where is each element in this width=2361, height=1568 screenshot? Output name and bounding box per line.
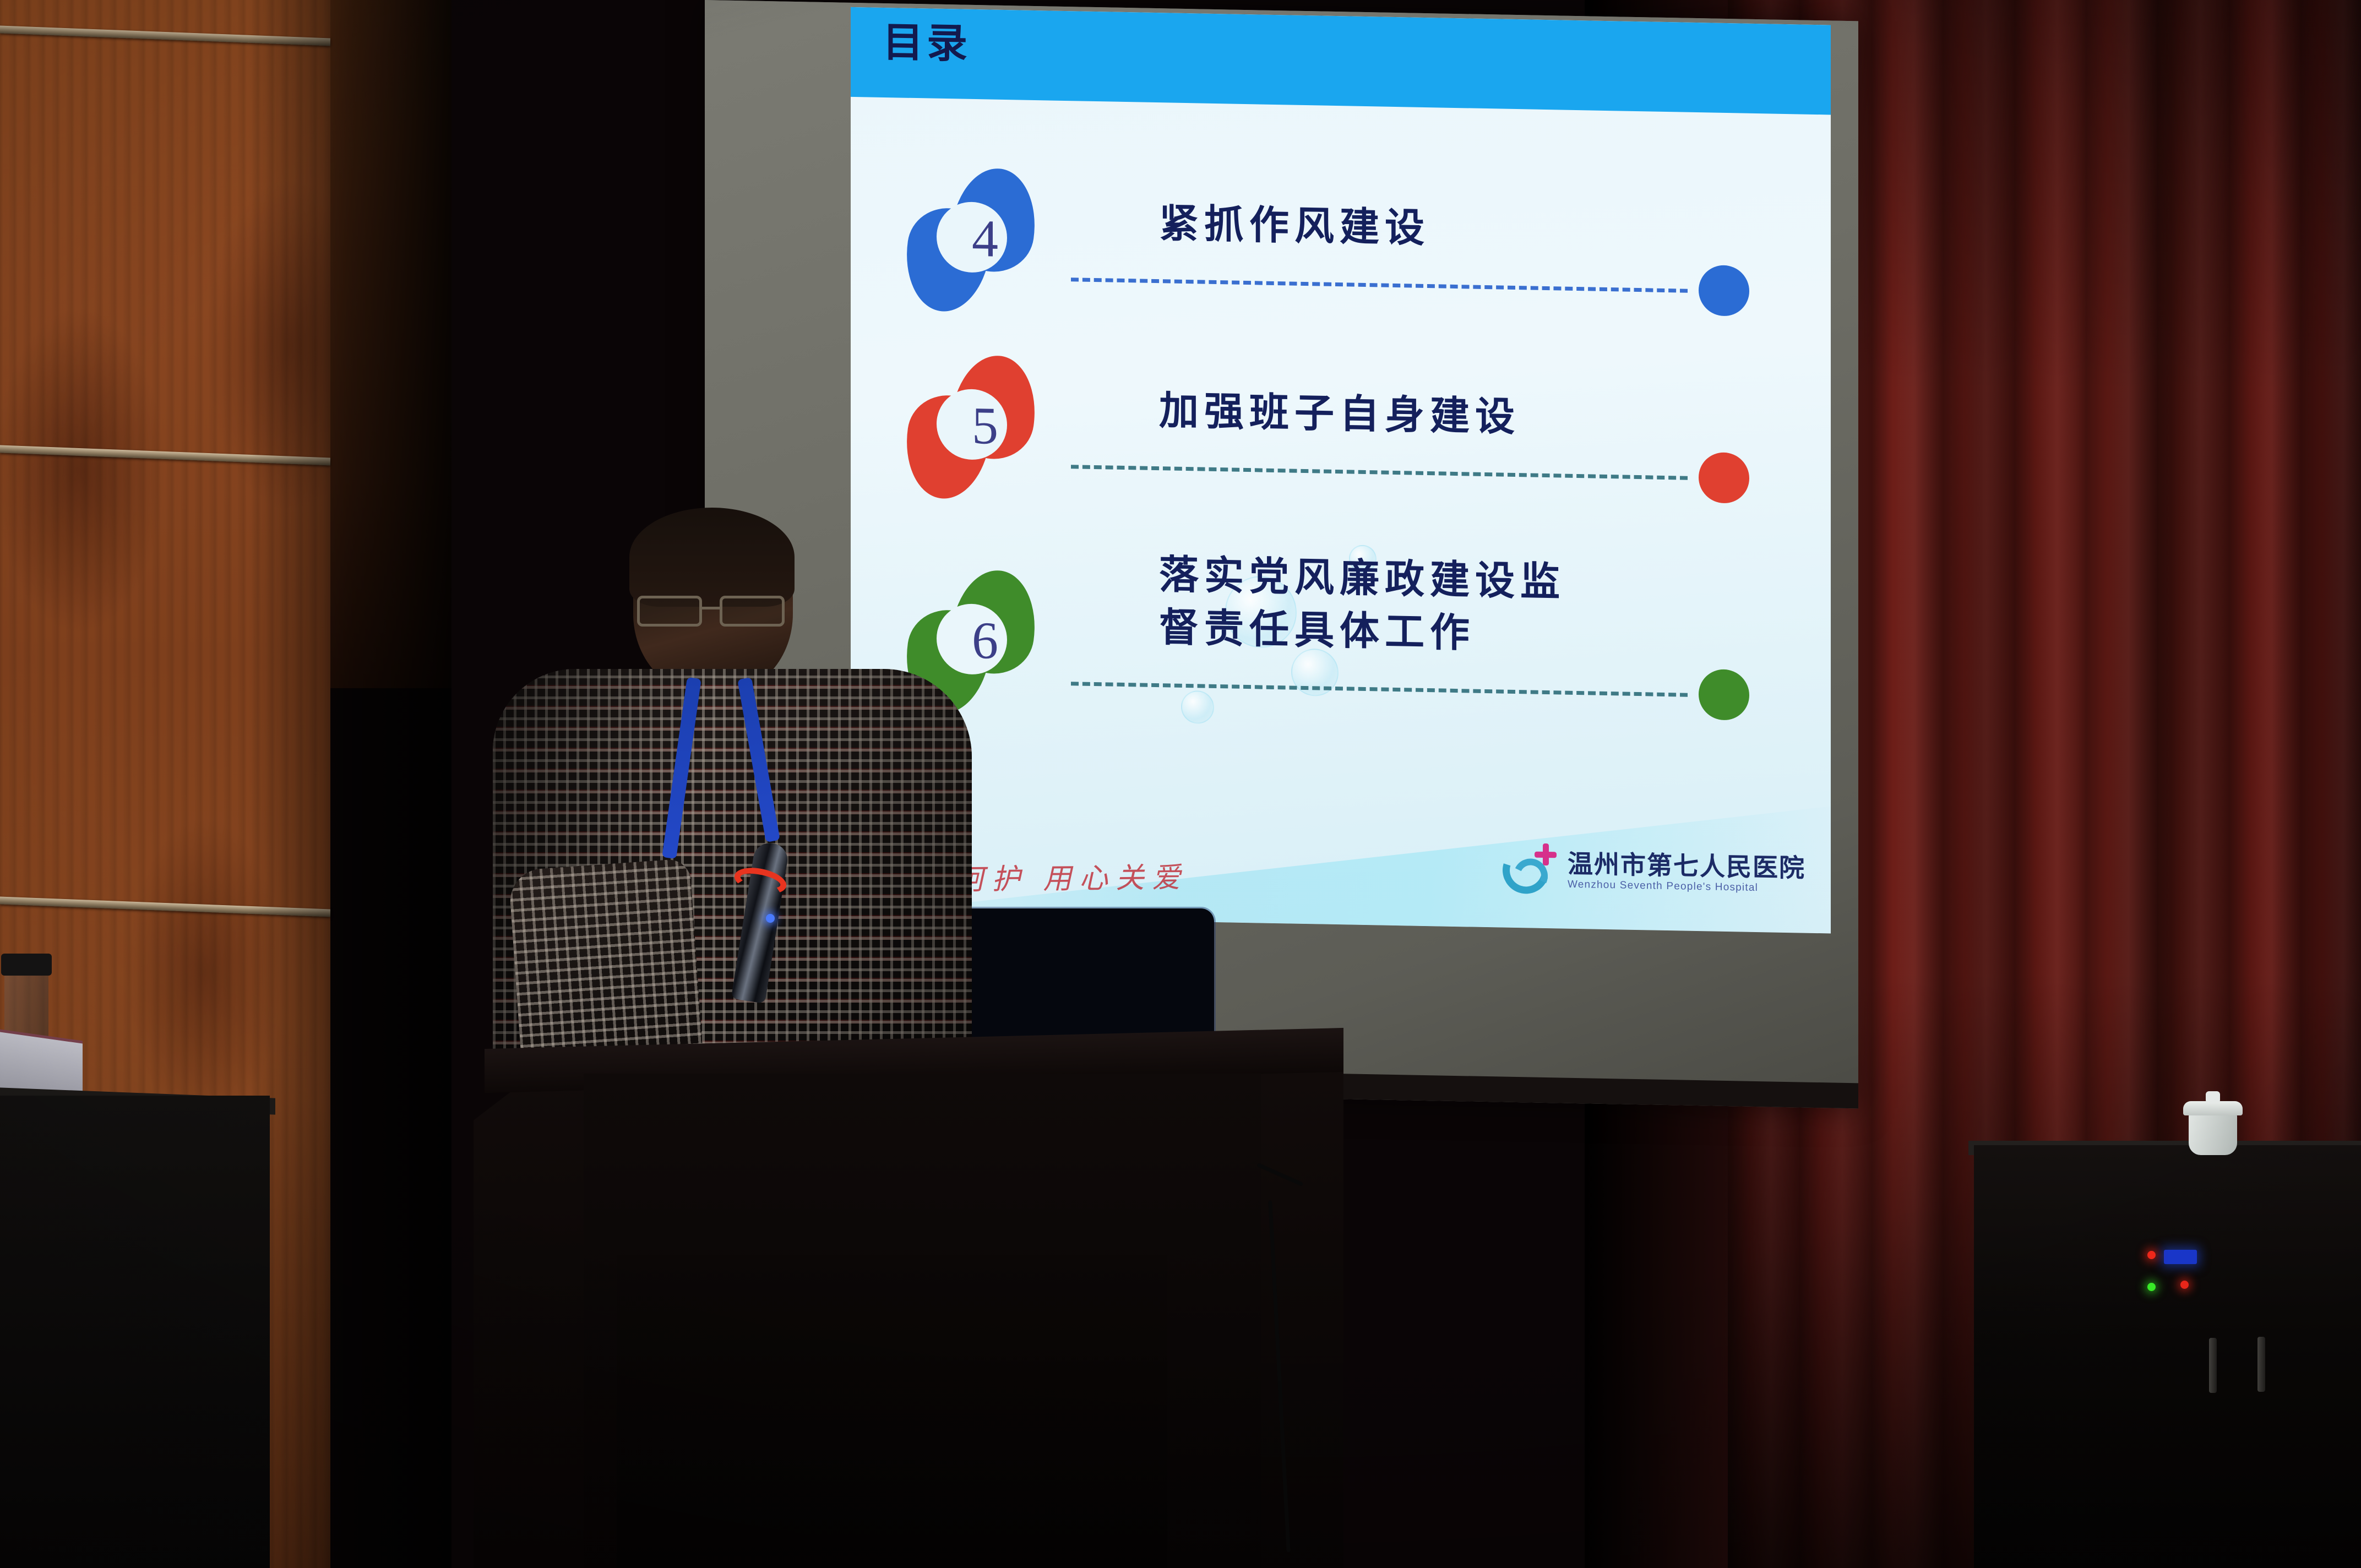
medical-cross-icon: [1535, 843, 1557, 866]
eyeglasses-icon: [637, 596, 797, 627]
toc-dot-line-5: [1071, 465, 1688, 480]
toc-item-5: 5 加强班子自身建设: [851, 353, 1831, 525]
water-glass-lid: [1, 954, 52, 976]
eyeglass-bridge: [702, 607, 721, 609]
toc-number-5: 5: [952, 394, 1018, 457]
presenter: [493, 512, 972, 1063]
toc-label-4: 紧抓作风建设: [1159, 200, 1721, 258]
eyeglass-lens-left: [637, 596, 702, 627]
av-rack-power-led: [2147, 1251, 2156, 1259]
toc-number-4: 4: [952, 207, 1018, 270]
hospital-logo-mark-icon: [1499, 839, 1559, 900]
av-rack-handle-left[interactable]: [2209, 1338, 2217, 1393]
toc-label-6-line2: 督责任具体工作: [1159, 604, 1721, 662]
slide-wave-decoration: [851, 734, 1831, 934]
toc-dot-line-6: [1071, 682, 1688, 697]
hospital-name-chinese: 温州市第七人民医院: [1568, 850, 1805, 883]
teacup-lid-knob: [2206, 1091, 2220, 1103]
microphone-status-led: [766, 914, 775, 923]
side-table: [0, 1096, 270, 1568]
presenter-laptop[interactable]: [955, 908, 1214, 1046]
slide-title-banner: [851, 7, 1831, 115]
teacup: [2189, 1112, 2237, 1155]
eyeglass-lens-right: [720, 596, 785, 627]
hospital-logo-text: 温州市第七人民医院 Wenzhou Seventh People's Hospi…: [1568, 850, 1805, 896]
toc-end-dot-6: [1699, 669, 1749, 721]
av-rack-handle-right[interactable]: [2257, 1337, 2265, 1392]
toc-label-6-line1: 落实党风廉政建设监: [1159, 551, 1721, 609]
av-rack-signal-led: [2180, 1281, 2189, 1289]
av-equipment-rack: [1974, 1145, 2361, 1568]
toc-item-4: 4 紧抓作风建设: [851, 166, 1831, 338]
toc-end-dot-4: [1699, 265, 1749, 317]
av-rack-display: [2164, 1250, 2197, 1264]
toc-swirl-icon-4: 4: [906, 167, 1042, 306]
toc-end-dot-5: [1699, 452, 1749, 504]
av-rack-status-led: [2147, 1283, 2156, 1291]
hospital-logo: 温州市第七人民医院 Wenzhou Seventh People's Hospi…: [1499, 839, 1805, 904]
toc-label-5: 加强班子自身建设: [1159, 387, 1721, 445]
presentation-room-photo: 目录 4 紧抓作风建设 5: [0, 0, 2361, 1568]
presenter-hair: [629, 508, 795, 607]
slide-title: 目录: [883, 22, 971, 64]
presentation-slide: 目录 4 紧抓作风建设 5: [851, 7, 1831, 934]
toc-item-6: 6 落实党风廉政建设监 督责任具体工作: [851, 540, 1831, 740]
lectern-column: [617, 1255, 1167, 1568]
toc-dot-line-4: [1071, 277, 1688, 293]
presenter-arm: [508, 858, 703, 1069]
toc-swirl-icon-5: 5: [906, 354, 1042, 493]
